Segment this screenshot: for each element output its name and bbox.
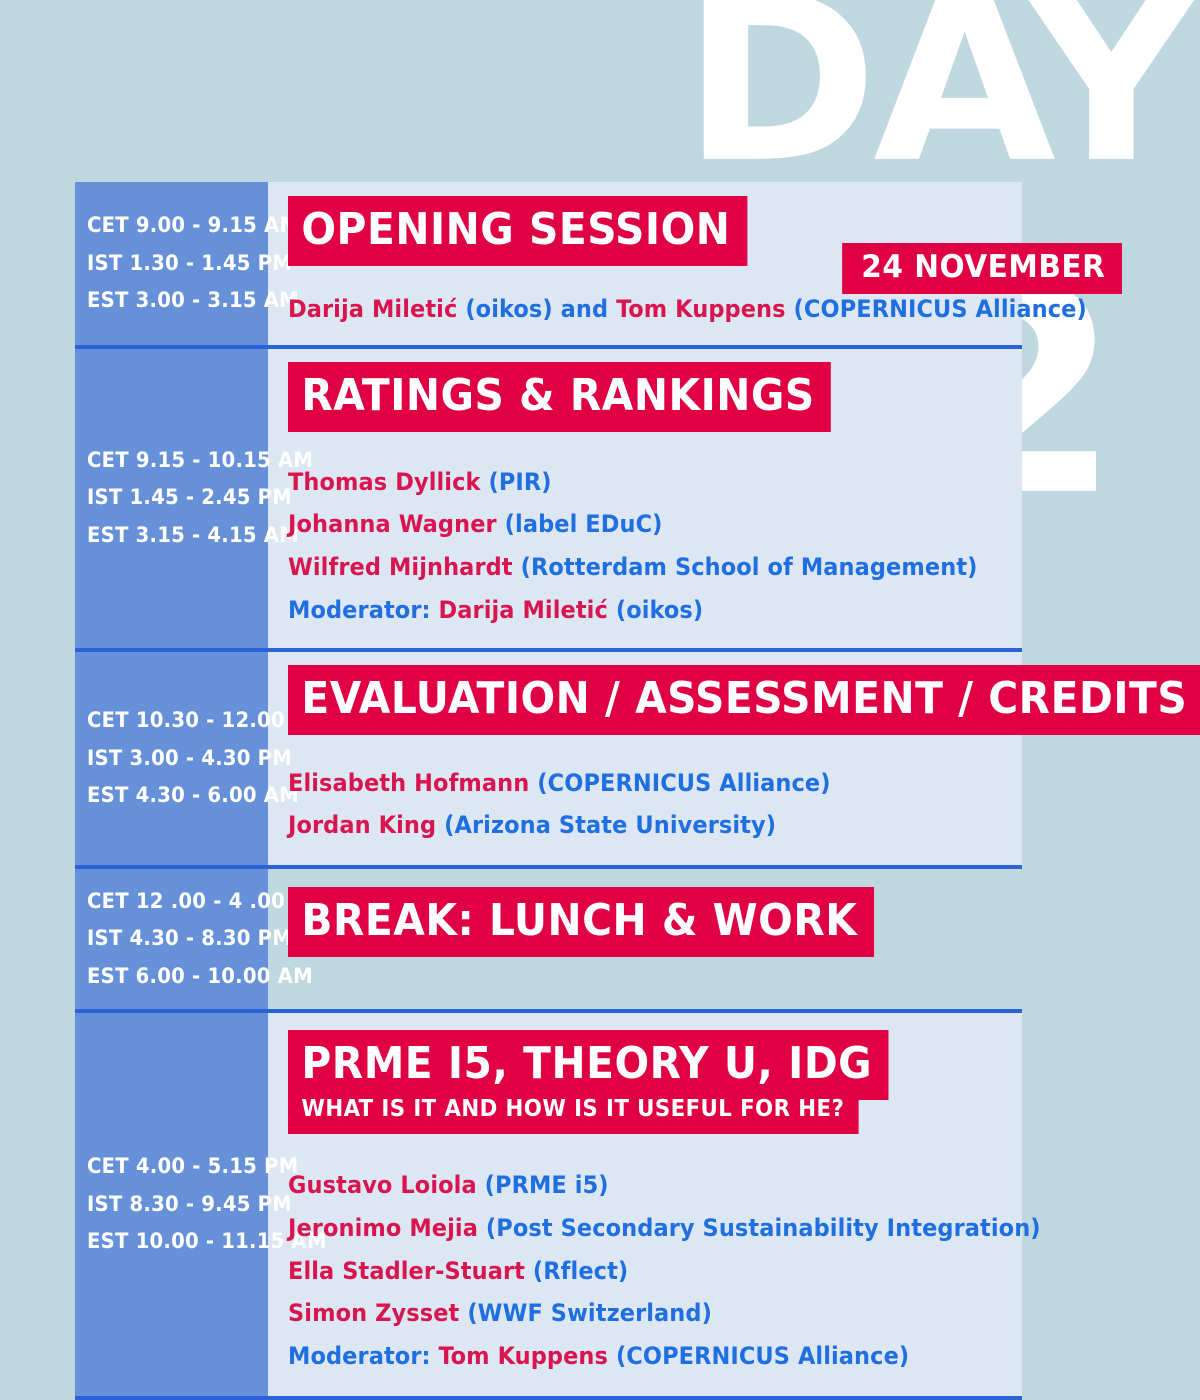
speaker-name: Elisabeth Hofmann — [288, 769, 529, 797]
speaker-entry: Wilfred Mijnhardt (Rotterdam School of M… — [288, 546, 1051, 589]
time-line: IST 3.00 - 4.30 PM — [87, 740, 275, 777]
speaker-entry: Elisabeth Hofmann (COPERNICUS Alliance) — [288, 762, 1051, 805]
speaker-name: Gustavo Loiola — [288, 1171, 477, 1199]
time-cell-eval: CET 10.30 - 12.00 PMIST 3.00 - 4.30 PMES… — [75, 652, 268, 865]
time-line: EST 6.00 - 10.00 AM — [87, 958, 275, 995]
speaker-name: Ella Stadler-Stuart — [288, 1257, 525, 1285]
speaker-name: Darija Miletić — [288, 295, 457, 323]
time-line: EST 3.15 - 4.15 AM — [87, 517, 275, 554]
speaker-affiliation: (WWF Switzerland) — [467, 1299, 712, 1327]
time-line: CET 10.30 - 12.00 PM — [87, 702, 275, 739]
speaker-affiliation: (Post Secondary Sustainability Integrati… — [486, 1214, 1041, 1242]
speaker-entry: Gustavo Loiola (PRME i5) — [288, 1164, 1051, 1207]
content-cell-prme: PRME I5, THEORY U, IDGWHAT IS IT AND HOW… — [268, 1013, 1022, 1396]
session-title-block-eval: EVALUATION / ASSESSMENT / CREDITS — [288, 665, 1022, 735]
time-line: CET 4.00 - 5.15 PM — [87, 1148, 275, 1185]
time-line: EST 4.30 - 6.00 AM — [87, 777, 275, 814]
speaker-affiliation: (Rotterdam School of Management) — [521, 553, 978, 581]
schedule-row-break: CET 12 .00 - 4 .00 PMIST 4.30 - 8.30 PME… — [75, 869, 1022, 1013]
schedule-row-prme: CET 4.00 - 5.15 PMIST 8.30 - 9.45 PMEST … — [75, 1013, 1022, 1400]
time-line: CET 9.15 - 10.15 AM — [87, 442, 275, 479]
schedule-row-eval: CET 10.30 - 12.00 PMIST 3.00 - 4.30 PMES… — [75, 652, 1022, 869]
speaker-name: Jordan King — [288, 811, 436, 839]
speaker-affiliation: (oikos) — [616, 596, 703, 624]
time-line: IST 1.30 - 1.45 PM — [87, 245, 275, 282]
time-line: IST 8.30 - 9.45 PM — [87, 1186, 275, 1223]
day-word-label: DAY — [682, 0, 1192, 194]
speaker-name: Darija Miletić — [439, 596, 608, 624]
schedule-row-ratings: CET 9.15 - 10.15 AMIST 1.45 - 2.45 PMEST… — [75, 349, 1022, 652]
speaker-name: Thomas Dyllick — [288, 468, 481, 496]
speaker-affiliation: (Rflect) — [533, 1257, 628, 1285]
speaker-list-eval: Elisabeth Hofmann (COPERNICUS Alliance)J… — [288, 762, 1022, 847]
speaker-entry: Ella Stadler-Stuart (Rflect) — [288, 1250, 1051, 1293]
speaker-affiliation-secondary: (COPERNICUS Alliance) — [794, 295, 1087, 323]
time-line: IST 4.30 - 8.30 PM — [87, 920, 275, 957]
speaker-entry: Johanna Wagner (label EDuC) — [288, 503, 1051, 546]
time-cell-prme: CET 4.00 - 5.15 PMIST 8.30 - 9.45 PMEST … — [75, 1013, 268, 1396]
speaker-affiliation: (PIR) — [488, 468, 551, 496]
speaker-entry: Moderator: Darija Miletić (oikos) — [288, 589, 1051, 632]
speaker-name: Tom Kuppens — [439, 1342, 609, 1370]
session-title-block-break: BREAK: LUNCH & WORK — [288, 887, 1022, 957]
time-cell-break: CET 12 .00 - 4 .00 PMIST 4.30 - 8.30 PME… — [75, 869, 268, 1009]
speaker-entry: Thomas Dyllick (PIR) — [288, 461, 1051, 504]
moderator-label: Moderator: — [288, 1342, 439, 1370]
speaker-affiliation: (COPERNICUS Alliance) — [537, 769, 830, 797]
speaker-entry: Jeronimo Mejia (Post Secondary Sustainab… — [288, 1207, 1051, 1250]
time-cell-opening: CET 9.00 - 9.15 AMIST 1.30 - 1.45 PMEST … — [75, 182, 268, 345]
speaker-name-secondary: Tom Kuppens — [616, 295, 786, 323]
speaker-list-prme: Gustavo Loiola (PRME i5)Jeronimo Mejia (… — [288, 1164, 1022, 1378]
speaker-affiliation: (COPERNICUS Alliance) — [616, 1342, 909, 1370]
speaker-name: Johanna Wagner — [288, 510, 497, 538]
speaker-affiliation: (label EDuC) — [505, 510, 663, 538]
speaker-name: Simon Zysset — [288, 1299, 459, 1327]
speaker-list-ratings: Thomas Dyllick (PIR)Johanna Wagner (labe… — [288, 461, 1022, 632]
session-subtitle: WHAT IS IT AND HOW IS IT USEFUL FOR HE? — [288, 1098, 859, 1134]
speaker-name: Jeronimo Mejia — [288, 1214, 478, 1242]
time-line: CET 9.00 - 9.15 AM — [87, 207, 275, 244]
speaker-entry: Moderator: Tom Kuppens (COPERNICUS Allia… — [288, 1335, 1051, 1378]
speaker-conjunction: and — [553, 295, 616, 323]
time-cell-ratings: CET 9.15 - 10.15 AMIST 1.45 - 2.45 PMEST… — [75, 349, 268, 648]
speaker-entry: Jordan King (Arizona State University) — [288, 804, 1051, 847]
session-title-block-prme: PRME I5, THEORY U, IDGWHAT IS IT AND HOW… — [288, 1030, 1022, 1134]
session-title-block-ratings: RATINGS & RANKINGS — [288, 362, 1022, 432]
speaker-affiliation: (PRME i5) — [485, 1171, 609, 1199]
session-title: BREAK: LUNCH & WORK — [288, 887, 874, 957]
time-line: CET 12 .00 - 4 .00 PM — [87, 883, 275, 920]
session-title: EVALUATION / ASSESSMENT / CREDITS — [288, 665, 1200, 735]
schedule-table: CET 9.00 - 9.15 AMIST 1.30 - 1.45 PMEST … — [75, 182, 1022, 1400]
time-line: IST 1.45 - 2.45 PM — [87, 479, 275, 516]
moderator-label: Moderator: — [288, 596, 439, 624]
speaker-affiliation: (oikos) — [465, 295, 552, 323]
session-title: PRME I5, THEORY U, IDG — [288, 1030, 889, 1100]
speaker-affiliation: (Arizona State University) — [444, 811, 776, 839]
time-line: EST 10.00 - 11.15 AM — [87, 1223, 275, 1260]
session-title: RATINGS & RANKINGS — [288, 362, 831, 432]
speaker-entry: Darija Miletić (oikos) and Tom Kuppens (… — [288, 288, 1051, 331]
content-cell-break: BREAK: LUNCH & WORK — [268, 869, 1022, 1009]
session-title: OPENING SESSION — [288, 196, 747, 266]
speaker-name: Wilfred Mijnhardt — [288, 553, 513, 581]
content-cell-ratings: RATINGS & RANKINGSThomas Dyllick (PIR)Jo… — [268, 349, 1022, 648]
time-line: EST 3.00 - 3.15 AM — [87, 282, 275, 319]
content-cell-eval: EVALUATION / ASSESSMENT / CREDITSElisabe… — [268, 652, 1022, 865]
speaker-entry: Simon Zysset (WWF Switzerland) — [288, 1292, 1051, 1335]
speaker-list-opening: Darija Miletić (oikos) and Tom Kuppens (… — [288, 288, 1022, 331]
date-badge: 24 NOVEMBER — [842, 243, 1122, 294]
